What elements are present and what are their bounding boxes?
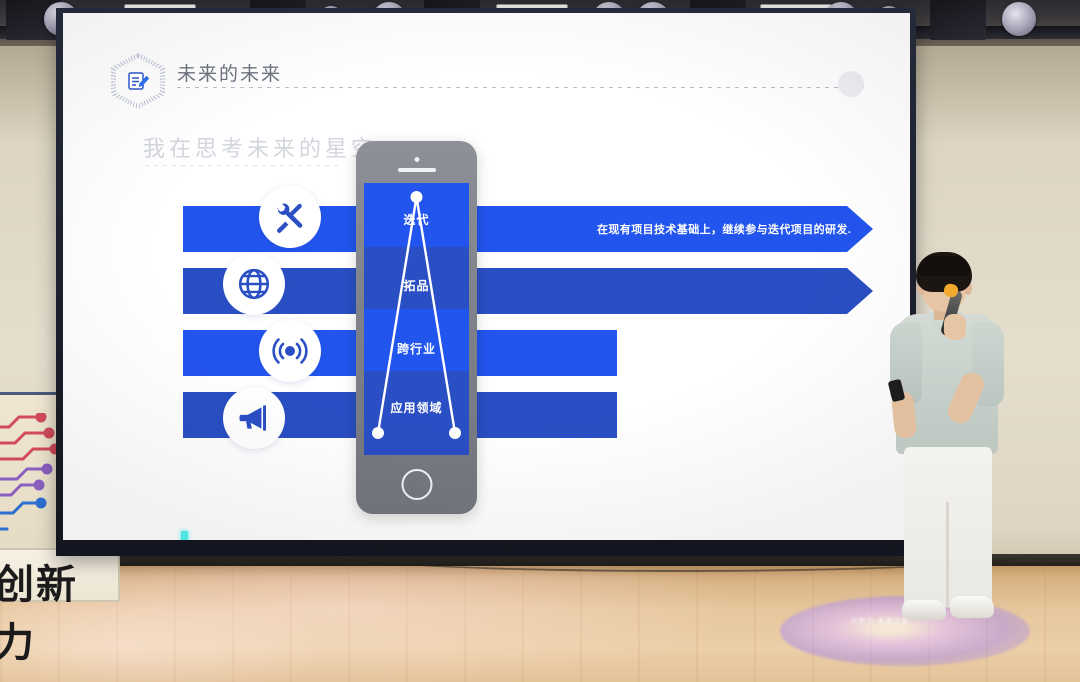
arrow-band-1-text: 在现有项目技术基础上，继续参与迭代项目的研发. (597, 221, 851, 237)
decor-circle (838, 71, 864, 97)
stage-light-housing (930, 0, 986, 40)
banner-caption-text: 创新力 (0, 552, 114, 668)
phone-label-3: 跨行业 (364, 340, 469, 357)
presenter-shoe-left (902, 600, 946, 620)
bubble-broadcast[interactable] (259, 320, 321, 382)
globe-icon (237, 267, 271, 301)
bubble-tools[interactable] (259, 186, 321, 248)
tools-icon (273, 200, 307, 234)
led-screen: 未来的未来 我在思考未来的星空 在现有项目技术基础上，继续参与迭 (63, 13, 910, 540)
stage-light-icon (1002, 2, 1036, 36)
hex-badge (111, 53, 165, 109)
smartphone-mockup: 迭代 拓品 跨行业 应用领域 (356, 141, 477, 514)
arrow-band-2 (183, 268, 873, 314)
slide-title: 未来的未来 (177, 59, 282, 86)
phone-home-button[interactable] (401, 469, 432, 500)
slide-header: 未来的未来 (111, 53, 860, 91)
led-screen-frame: 未来的未来 我在思考未来的星空 在现有项目技术基础上，继续参与迭 (56, 8, 916, 556)
presenter-shoe-right (950, 596, 994, 618)
bubble-globe[interactable] (223, 253, 285, 315)
megaphone-icon (237, 401, 271, 435)
presentation-slide: 未来的未来 我在思考未来的星空 在现有项目技术基础上，继续参与迭 (63, 13, 910, 540)
broadcast-icon (272, 333, 308, 369)
presenter (878, 252, 1028, 652)
presenter-leg-split (946, 502, 949, 608)
phone-label-2: 拓品 (364, 277, 469, 294)
header-divider (177, 87, 864, 88)
cyan-led-indicator (181, 531, 188, 540)
document-pen-icon (126, 69, 150, 93)
phone-label-1: 迭代 (364, 211, 469, 228)
phone-camera (414, 157, 419, 162)
slide-subtitle: 我在思考未来的星空 (143, 131, 377, 163)
subtitle-divider (145, 165, 341, 166)
presenter-hair-fringe (918, 256, 970, 276)
phone-label-4: 应用领域 (364, 399, 469, 416)
phone-speaker (398, 168, 436, 172)
scene-photo: 创新力 未来之星 (0, 0, 1080, 682)
presenter-hand-right (944, 314, 966, 340)
bubble-megaphone[interactable] (223, 387, 285, 449)
phone-screen: 迭代 拓品 跨行业 应用领域 (364, 183, 469, 455)
